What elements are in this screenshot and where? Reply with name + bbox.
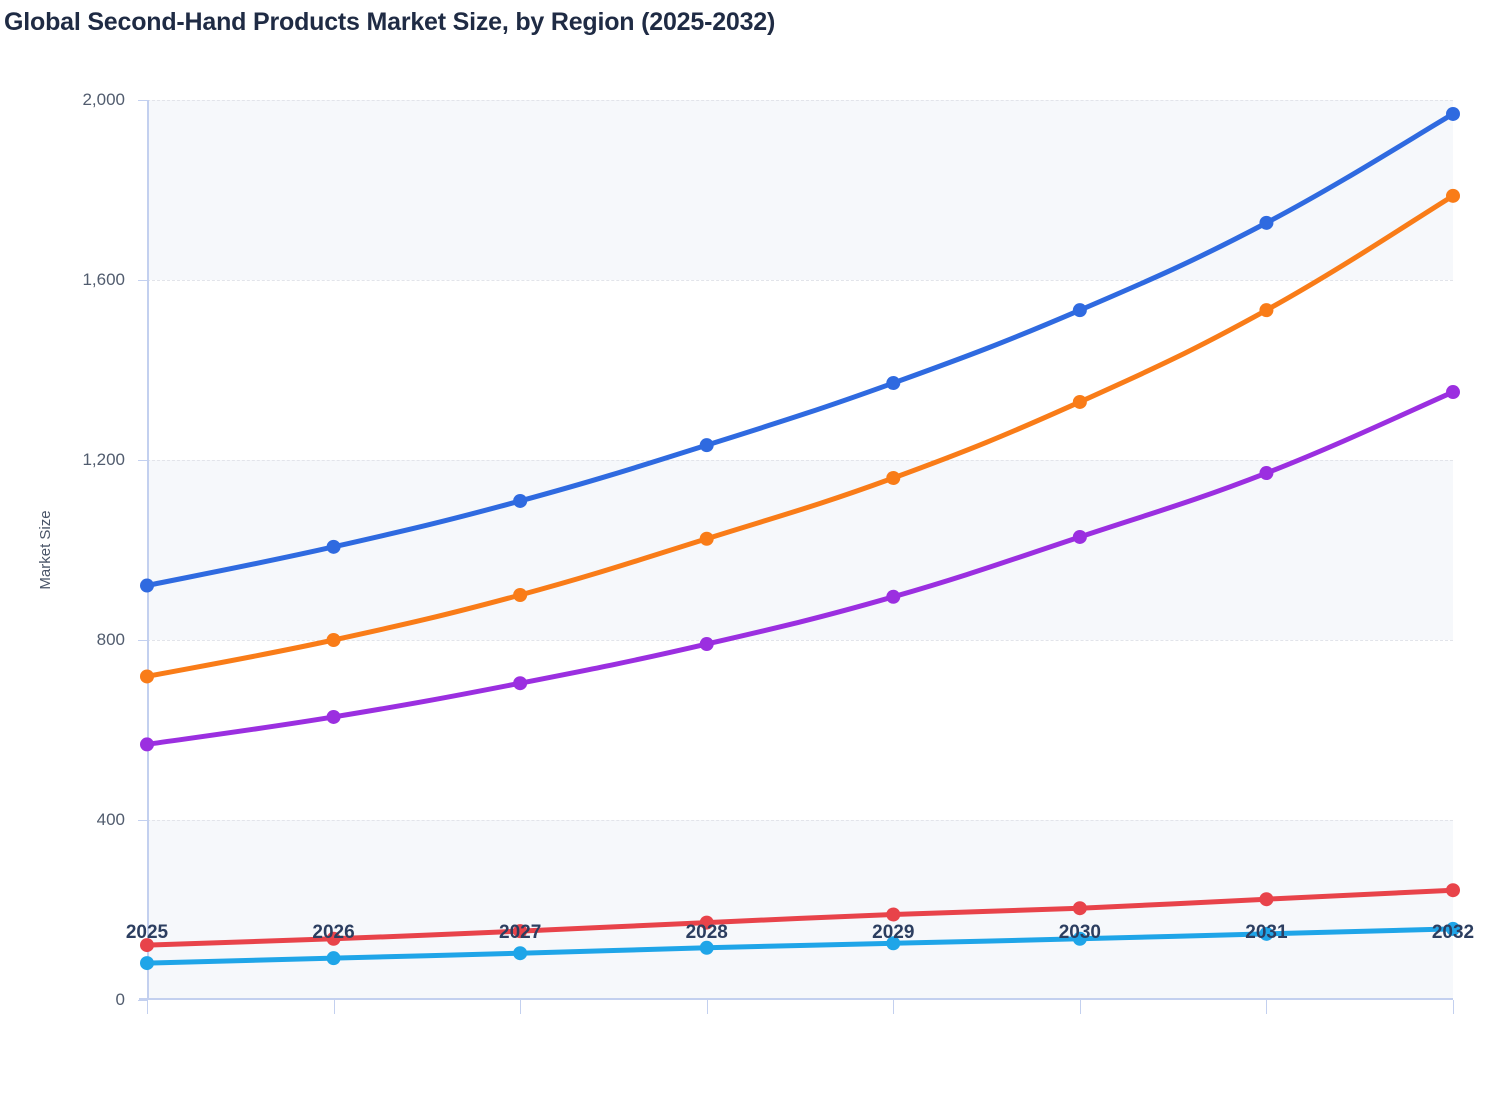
data-point[interactable] (1073, 303, 1087, 317)
y-tick-label: 800 (97, 630, 125, 650)
data-point[interactable] (327, 710, 341, 724)
data-point[interactable] (886, 471, 900, 485)
y-tick-label: 1,200 (82, 450, 125, 470)
y-axis-title: Market Size (37, 510, 54, 589)
x-tick-label: 2032 (1432, 922, 1474, 944)
series-2 (140, 189, 1460, 684)
y-tick-label: 0 (116, 990, 125, 1010)
data-point[interactable] (1446, 883, 1460, 897)
data-point[interactable] (1073, 901, 1087, 915)
y-tick-mark (138, 280, 147, 281)
y-tick-mark (138, 820, 147, 821)
x-tick-label: 2027 (499, 922, 541, 944)
data-point[interactable] (1259, 466, 1273, 480)
data-point[interactable] (140, 956, 154, 970)
data-point[interactable] (1446, 189, 1460, 203)
plot-area (147, 100, 1453, 1000)
data-point[interactable] (513, 494, 527, 508)
data-point[interactable] (513, 588, 527, 602)
data-point[interactable] (700, 438, 714, 452)
series-3 (140, 385, 1460, 751)
x-tick-mark (147, 1000, 148, 1014)
x-tick-mark (1453, 1000, 1454, 1014)
chart-container: Global Second-Hand Products Market Size,… (0, 0, 1508, 1120)
series-1 (140, 107, 1460, 593)
data-point[interactable] (1446, 107, 1460, 121)
y-tick-mark (138, 100, 147, 101)
x-tick-label: 2025 (126, 922, 168, 944)
data-point[interactable] (140, 579, 154, 593)
data-point[interactable] (1073, 395, 1087, 409)
data-point[interactable] (1446, 385, 1460, 399)
x-tick-label: 2030 (1059, 922, 1101, 944)
data-point[interactable] (700, 637, 714, 651)
series-lines (147, 100, 1453, 1000)
data-point[interactable] (886, 908, 900, 922)
x-tick-mark (1080, 1000, 1081, 1014)
x-tick-mark (707, 1000, 708, 1014)
data-point[interactable] (513, 676, 527, 690)
series-line (147, 392, 1453, 744)
series-line (147, 196, 1453, 677)
x-tick-label: 2031 (1245, 922, 1287, 944)
x-tick-mark (334, 1000, 335, 1014)
y-tick-label: 1,600 (82, 270, 125, 290)
x-tick-mark (520, 1000, 521, 1014)
data-point[interactable] (886, 376, 900, 390)
data-point[interactable] (700, 532, 714, 546)
x-tick-mark (1266, 1000, 1267, 1014)
y-tick-mark (138, 460, 147, 461)
y-tick-mark (138, 640, 147, 641)
data-point[interactable] (327, 540, 341, 554)
data-point[interactable] (140, 737, 154, 751)
data-point[interactable] (1259, 303, 1273, 317)
data-point[interactable] (327, 633, 341, 647)
chart-title: Global Second-Hand Products Market Size,… (4, 8, 775, 37)
x-tick-mark (893, 1000, 894, 1014)
x-tick-label: 2026 (312, 922, 354, 944)
series-line (147, 114, 1453, 586)
y-tick-label: 400 (97, 810, 125, 830)
data-point[interactable] (1259, 216, 1273, 230)
data-point[interactable] (140, 669, 154, 683)
x-tick-label: 2028 (686, 922, 728, 944)
data-point[interactable] (1259, 892, 1273, 906)
data-point[interactable] (886, 590, 900, 604)
y-tick-mark (138, 1000, 147, 1001)
data-point[interactable] (1073, 530, 1087, 544)
data-point[interactable] (327, 951, 341, 965)
y-tick-label: 2,000 (82, 90, 125, 110)
x-tick-label: 2029 (872, 922, 914, 944)
data-point[interactable] (513, 946, 527, 960)
